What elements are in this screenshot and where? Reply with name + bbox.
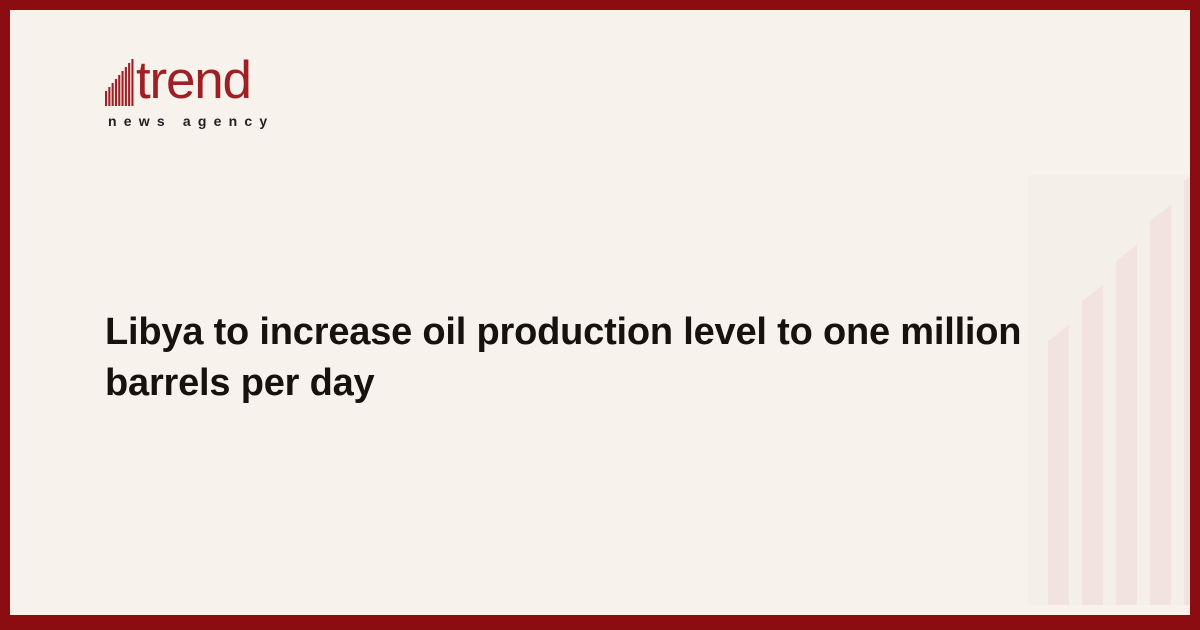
trend-bars-logo-mark — [105, 58, 135, 106]
decoration-bar — [1150, 205, 1171, 605]
headline: Libya to increase oil production level t… — [105, 307, 1035, 407]
logo-tagline: news agency — [108, 113, 425, 129]
decoration-bar — [1184, 165, 1190, 605]
ascending-bar-chart-graphic — [1028, 175, 1190, 605]
trend-news-agency-logo[interactable]: trend news agency — [105, 54, 425, 129]
card-canvas: trend news agency Libya to increase oil … — [10, 10, 1190, 615]
decoration-bar — [1116, 245, 1137, 605]
social-share-card: trend news agency Libya to increase oil … — [0, 0, 1200, 630]
decoration-bar — [1048, 325, 1069, 605]
logo-primary-row: trend — [105, 54, 425, 106]
logo-wordmark: trend — [136, 57, 251, 106]
decoration-bar — [1082, 285, 1103, 605]
